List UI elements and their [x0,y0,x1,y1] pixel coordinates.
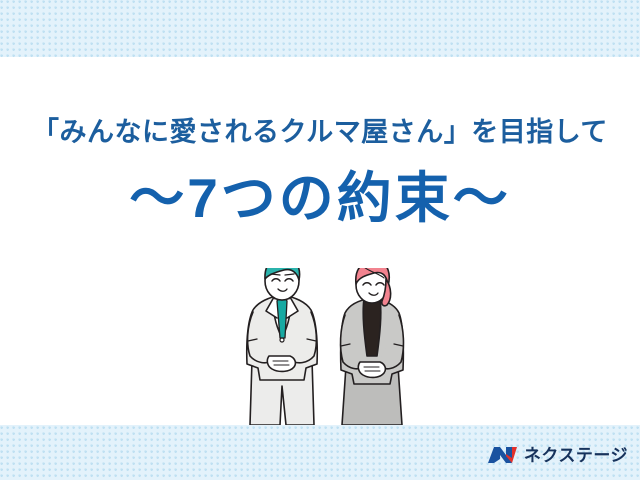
nextage-n-logo-icon [488,444,518,466]
headline-line-2: 〜7つの約束〜 [0,166,640,230]
headline-line-1: 「みんなに愛されるクルマ屋さん」を目指して [0,112,640,152]
slide-canvas: 「みんなに愛されるクルマ屋さん」を目指して 〜7つの約束〜 [0,0,640,480]
brand-wordmark: ネクステージ [524,447,628,464]
headline-block: 「みんなに愛されるクルマ屋さん」を目指して 〜7つの約束〜 [0,112,640,230]
brand-logo: ネクステージ [488,442,628,468]
staff-illustration-svg [236,268,426,425]
female-staff-figure [341,268,404,425]
bowing-staff-illustration [236,268,426,425]
male-staff-figure [247,268,318,425]
